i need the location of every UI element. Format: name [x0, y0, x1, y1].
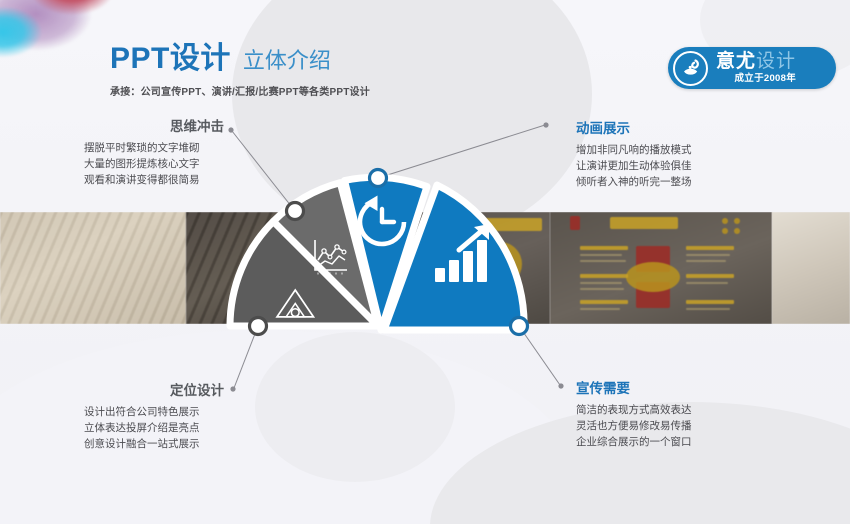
node-animation-display[interactable] — [370, 170, 387, 187]
node-positioning-design[interactable] — [250, 318, 267, 335]
callout-line: 设计出符合公司特色展示 — [84, 404, 224, 420]
callout-line: 立体表达投屏介绍是亮点 — [84, 420, 224, 436]
logo-established-year: 成立于2008年 — [716, 74, 796, 84]
callout-line: 增加非同凡响的播放模式 — [576, 142, 726, 158]
callout-line: 让演讲更加生动体验俱佳 — [576, 158, 726, 174]
callout-heading: 思维冲击 — [84, 120, 224, 134]
callout-line: 摆脱平时繁琐的文字堆砌 — [84, 140, 224, 156]
callout-line: 大量的图形提炼核心文字 — [84, 156, 224, 172]
callout-line: 灵活也方便易修改易传播 — [576, 418, 726, 434]
tagline: 承接：公司宣传PPT、演讲/汇报/比赛PPT等各类PPT设计 — [110, 83, 370, 98]
logo-name-dim: 设计 — [756, 51, 796, 72]
callout-line: 企业综合展示的一个窗口 — [576, 434, 726, 450]
mouse-swoosh-icon — [673, 51, 708, 86]
logo-name-strong: 意尤 — [716, 51, 756, 72]
brand-logo[interactable]: 意尤设计 成立于2008年 — [668, 47, 836, 89]
callout-line: 观看和演讲变得都很简易 — [84, 172, 224, 188]
callout-heading: 动画展示 — [576, 122, 726, 136]
page-header: PPT设计 立体介绍 承接：公司宣传PPT、演讲/汇报/比赛PPT等各类PPT设… — [110, 44, 370, 98]
node-promotion-need[interactable] — [511, 318, 528, 335]
node-thinking-impact[interactable] — [287, 203, 304, 220]
page-subtitle: 立体介绍 — [243, 50, 331, 72]
callout-heading: 定位设计 — [84, 384, 224, 398]
callout-heading: 宣传需要 — [576, 382, 726, 396]
callout-thinking-impact: 思维冲击 摆脱平时繁琐的文字堆砌 大量的图形提炼核心文字 观看和演讲变得都很简易 — [84, 120, 224, 188]
page-title: PPT设计 — [110, 44, 231, 74]
callout-line: 创意设计融合一站式展示 — [84, 436, 224, 452]
callout-positioning-design: 定位设计 设计出符合公司特色展示 立体表达投屏介绍是亮点 创意设计融合一站式展示 — [84, 384, 224, 452]
callout-promotion-need: 宣传需要 简洁的表现方式高效表达 灵活也方便易修改易传播 企业综合展示的一个窗口 — [576, 382, 726, 450]
callout-animation-display: 动画展示 增加非同凡响的播放模式 让演讲更加生动体验俱佳 倾听者入神的听完一整场 — [576, 122, 726, 190]
callout-line: 倾听者入神的听完一整场 — [576, 174, 726, 190]
slide-canvas: PPT设计 立体介绍 承接：公司宣传PPT、演讲/汇报/比赛PPT等各类PPT设… — [0, 0, 850, 524]
callout-line: 简洁的表现方式高效表达 — [576, 402, 726, 418]
